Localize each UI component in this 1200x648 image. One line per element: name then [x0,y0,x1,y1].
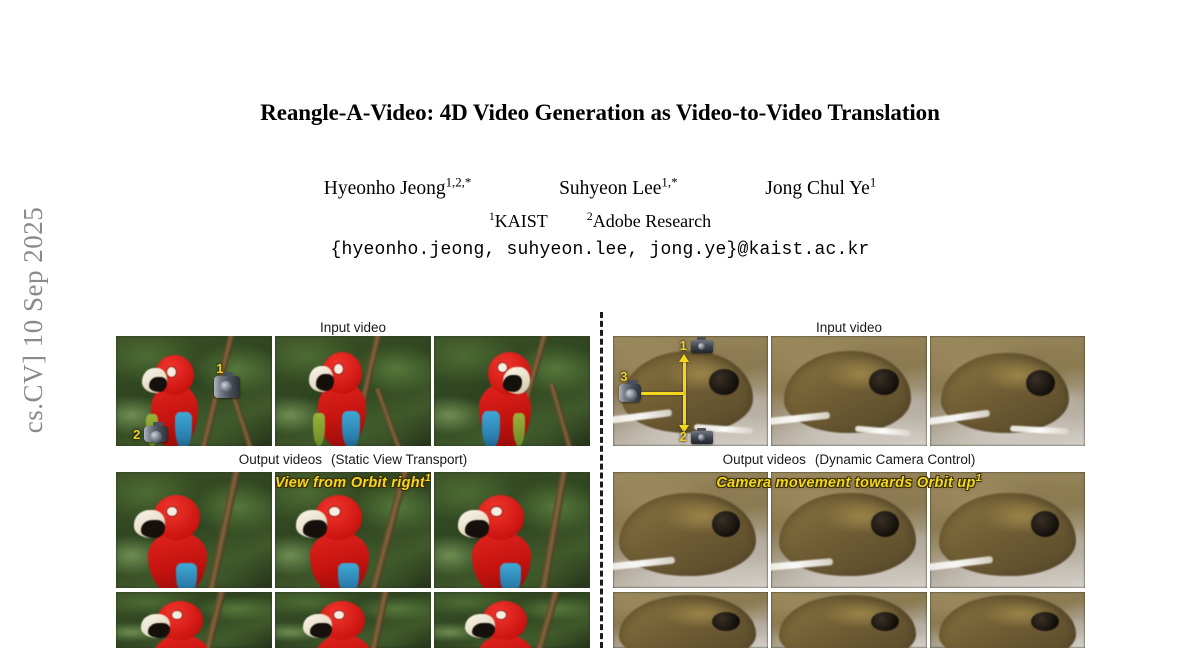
camera-icon [691,431,713,444]
parrot [128,493,215,588]
parrot-beak-dark [503,375,522,391]
parrot-beak-dark [303,520,327,538]
author-2-name: Suhyeon Lee [559,178,661,199]
left-output-video-strip-1: View from Orbit right1 [116,472,590,588]
video-frame [434,336,590,446]
parrot-eye [172,611,182,619]
video-frame [771,336,926,446]
right-output-video-strip-1: Camera movement towards Orbit up1 [613,472,1085,588]
video-frame [275,592,431,648]
author-1: Hyeonho Jeong1,2,* [324,178,472,200]
parrot [462,598,543,648]
left-output-label: Output videos(Static View Transport) [116,452,590,467]
parrot-wing-green [513,413,525,446]
contact-email: {hyeonho.jeong, suhyeon.lee, jong.ye}@ka… [0,240,1200,260]
parrot-beak-dark [149,377,166,392]
left-input-label: Input video [116,320,590,335]
video-frame [771,472,926,588]
video-frame [613,592,768,648]
camera-marker-label: 2 [680,430,687,443]
arrow-head-up [679,354,689,362]
parrot-beak-dark [310,623,333,638]
right-output-label-main: Output videos [723,452,806,467]
affiliation-list: 1KAIST 2Adobe Research [0,211,1200,232]
parrot [306,349,378,446]
parrot [300,598,381,648]
camera-icon [619,384,641,402]
affiliation-1-name: KAIST [495,211,548,231]
parrot-eye [491,507,501,517]
parrot-wing-blue [482,411,500,446]
parrot-beak-dark [148,623,171,638]
parrot [468,349,543,446]
camera-marker-label: 1 [680,339,687,352]
toad-eye [871,511,899,537]
affiliation-2: 2Adobe Research [587,211,711,232]
figure-panel-left: Input video 1 [116,310,590,648]
author-1-name: Hyeonho Jeong [324,178,446,199]
toad-eye [1031,511,1059,537]
right-input-video-strip: 1 2 3 [613,336,1085,446]
video-frame: 1 2 3 [613,336,768,446]
page-title: Reangle-A-Video: 4D Video Generation as … [0,100,1200,126]
arrow-horizontal-line [635,392,685,395]
parrot [138,598,219,648]
toad-eye [709,369,739,395]
author-2-sup: 1,* [661,176,677,190]
video-frame [930,336,1085,446]
video-frame [116,592,272,648]
affiliation-2-name: Adobe Research [593,211,711,231]
left-output-label-main: Output videos [239,452,322,467]
right-output-label: Output videos(Dynamic Camera Control) [613,452,1085,467]
author-3-name: Jong Chul Ye [765,178,870,199]
camera-marker-label: 3 [620,370,627,383]
camera-marker-label: 1 [216,362,223,375]
parrot-eye [329,507,339,517]
author-2: Suhyeon Lee1,* [559,178,677,200]
video-frame [771,592,926,648]
parrot-wing-green [313,413,324,446]
video-frame [434,472,590,588]
parrot [453,493,540,588]
panel-divider [600,312,603,648]
parrot-beak-dark [141,520,165,538]
camera-icon [691,340,713,353]
parrot-beak-dark [465,520,489,538]
parrot [291,493,378,588]
parrot-wing-blue [176,563,197,588]
video-frame [116,472,272,588]
camera-icon [214,376,240,398]
parrot-beak-dark [316,374,334,390]
video-frame [275,472,431,588]
video-frame: 1 2 [116,336,272,446]
author-3-sup: 1 [870,176,876,190]
figure-panel-right: Input video 1 [613,310,1085,648]
video-frame [613,472,768,588]
author-list: Hyeonho Jeong1,2,* Suhyeon Lee1,* Jong C… [0,178,1200,200]
right-input-label: Input video [613,320,1085,335]
parrot-beak-dark [472,623,495,638]
affiliation-1: 1KAIST [489,211,548,232]
left-output-video-strip-2 [116,592,590,648]
toad-eye [871,612,899,631]
author-3: Jong Chul Ye1 [765,178,876,200]
parrot-wing-blue [342,411,360,446]
author-1-sup: 1,2,* [446,176,472,190]
video-frame [930,592,1085,648]
video-frame [275,336,431,446]
video-frame [930,472,1085,588]
camera-icon [144,426,168,442]
parrot-wing-blue [500,563,521,588]
right-output-sublabel: (Dynamic Camera Control) [815,452,976,467]
toad-eye [1031,612,1059,631]
parrot-wing-blue [175,412,192,446]
left-output-sublabel: (Static View Transport) [331,452,467,467]
parrot-eye [167,367,176,377]
parrot-wing-blue [338,563,359,588]
left-input-video-strip: 1 2 [116,336,590,446]
toad-eye [869,369,899,395]
right-output-video-strip-2 [613,592,1085,648]
camera-marker-label: 2 [133,428,140,441]
video-frame [434,592,590,648]
